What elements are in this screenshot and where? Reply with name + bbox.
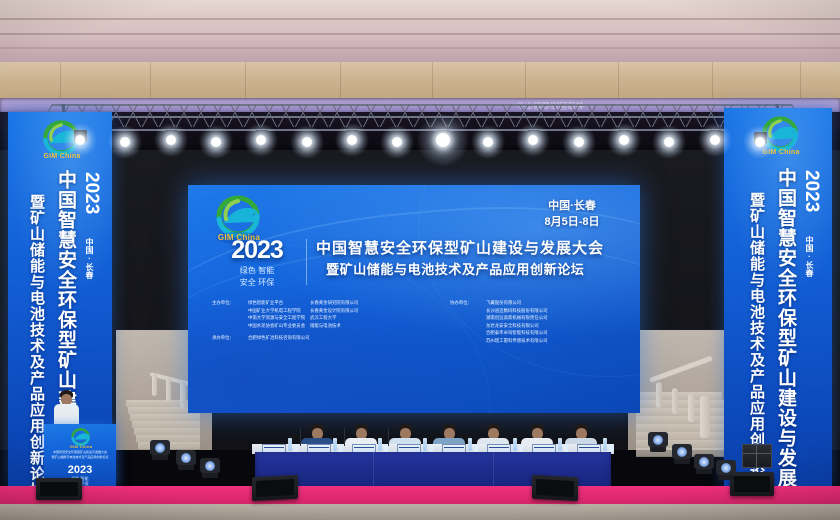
screen-dates: 8月5日-8日 [512, 215, 632, 231]
host-col1-item: 绿色智能矿业平台 [248, 299, 310, 307]
gim-logo-wordmark: GIM China [66, 444, 96, 449]
stage-monitor-far-right [730, 472, 774, 496]
stage-light-bulb [574, 137, 584, 147]
moving-head-light [176, 448, 196, 470]
drinking-glass [429, 444, 433, 452]
baluster [166, 378, 171, 402]
left-banner-venue: 中国·长春 [84, 238, 95, 279]
right-vertical-banner: GIM China 2023 中国·长春 中国智慧安全环保型矿山建设与发展大会 … [724, 108, 832, 490]
water-bottle [603, 438, 607, 451]
screen-year-block: 2023 绿色 智能 安全 环保 [214, 237, 300, 289]
stage-light-bulb [347, 135, 357, 145]
table-microphone [300, 428, 301, 446]
baluster [656, 382, 662, 408]
drinking-glass [609, 444, 613, 452]
moving-head-light [694, 452, 714, 474]
stage-light-bulb [710, 135, 720, 145]
moving-head-light [200, 456, 220, 478]
water-bottle [333, 438, 337, 451]
exec-value: 合肥绿色矿冶科技咨询有限公司 [248, 334, 309, 342]
left-banner-year: 2023 [80, 172, 102, 214]
coorganizer-row: 湖南创远高新机械有限责任公司 [450, 314, 547, 322]
podium-year: 2023 [44, 464, 116, 476]
host-col1-item: 中南大学资源与安全工程学院 [248, 314, 310, 322]
coorganizer-row: 协办单位： 飞翼股份有限公司 [450, 299, 547, 307]
host-label: 主办单位： [212, 299, 248, 307]
water-bottle [468, 438, 472, 451]
drinking-glass [339, 444, 343, 452]
stage-light-bulb [619, 135, 629, 145]
gim-logo-wordmark: GIM China [754, 149, 808, 156]
baluster [688, 394, 695, 422]
ceiling-cornice [0, 62, 840, 98]
host-col2-item: 储能与电池技术 [310, 322, 341, 330]
host-col2-item: 长春黄金设计院有限公司 [310, 307, 358, 315]
stage-light-bulb [75, 135, 85, 145]
screen-coorganizers: 协办单位： 飞翼股份有限公司 长沙迪迈数码科技股份有限公司 湖南创远高新机械有限… [450, 299, 547, 344]
host-col1-item: 中国水泥协会矿山专业委员会 [248, 322, 310, 330]
coorg-label: 协办单位： [450, 299, 486, 307]
stage-light-bulb [436, 133, 450, 147]
drinking-glass [474, 444, 478, 452]
moving-head-light [672, 442, 692, 464]
truss-chord [52, 129, 792, 131]
exec-label: 承办单位： [212, 334, 248, 342]
moving-head-light [150, 438, 170, 460]
stage-apron [0, 504, 840, 520]
organizer-row: 中南大学资源与安全工程学院 武汉工程大学 [212, 314, 358, 322]
stage-light-bulb [483, 137, 493, 147]
coorganizer-row: 长沙迪迈数码科技股份有限公司 [450, 307, 547, 315]
screen-slogan-line1: 绿色 智能 [214, 265, 300, 277]
coorg-item: 飞翼股份有限公司 [486, 299, 521, 307]
coorg-item: 龙岩龙安安全科技有限公司 [486, 322, 539, 330]
screen-title-main: 中国智慧安全环保型矿山建设与发展大会 [316, 239, 604, 258]
right-banner-year: 2023 [800, 170, 822, 212]
gim-logo-wordmark: GIM China [36, 153, 88, 160]
main-led-screen: GIM China 中国·长春 8月5日-8日 2023 绿色 智能 安全 环保… [188, 185, 640, 413]
stage-monitor-podium [36, 478, 82, 500]
screen-year: 2023 [214, 237, 300, 263]
coorg-item: 苏州理工雷科传感技术有限公司 [486, 337, 547, 345]
flight-case [742, 444, 772, 468]
baluster [180, 382, 186, 408]
right-banner-title-main: 中国智慧安全环保型矿山建设与发展大会 [772, 168, 799, 490]
table-microphone [388, 428, 389, 446]
podium-line2: 暨矿山储能与电池技术及产品应用创新论坛 [44, 455, 116, 459]
organizer-row: 主办单位： 绿色智能矿业平台 长春黄金研究院有限公司 [212, 299, 358, 307]
screen-title-divider [306, 239, 307, 285]
baluster [672, 388, 678, 414]
water-bottle [378, 438, 382, 451]
water-bottle [423, 438, 427, 451]
coorg-item: 长沙迪迈数码科技股份有限公司 [486, 307, 547, 315]
water-bottle [513, 438, 517, 451]
moving-head-light [648, 430, 668, 452]
baluster-newel [700, 396, 710, 438]
screen-venue: 中国·长春 [512, 199, 632, 215]
coorg-item: 湖南创远高新机械有限责任公司 [486, 314, 547, 322]
organizer-row-exec: 承办单位： 合肥绿色矿冶科技咨询有限公司 [212, 334, 358, 342]
drinking-glass [564, 444, 568, 452]
stage-light-bulb [755, 137, 765, 147]
stage-monitor-left [252, 475, 298, 501]
moving-head-light [716, 458, 736, 480]
organizer-row: 中国水泥协会矿山专业委员会 储能与电池技术 [212, 322, 358, 330]
coorganizer-row: 龙岩龙安安全科技有限公司 [450, 322, 547, 330]
stage-monitor-right [532, 475, 578, 501]
table-microphone [344, 428, 345, 446]
water-bottle [558, 438, 562, 451]
host-col1-item: 中国矿业大学机电工程学院 [248, 307, 310, 315]
gim-china-logo: GIM China [68, 428, 94, 450]
venue-ceiling [0, 0, 840, 62]
host-col2-item: 武汉工程大学 [310, 314, 336, 322]
drinking-glass [519, 444, 523, 452]
baluster [152, 374, 157, 396]
podium: GIM China 中国智慧安全环保型矿山建设与发展大会 暨矿山储能与电池技术及… [44, 424, 116, 486]
lighting-truss [52, 100, 792, 134]
screen-organizers: 主办单位： 绿色智能矿业平台 长春黄金研究院有限公司 中国矿业大学机电工程学院 … [212, 299, 358, 342]
water-bottle [288, 438, 292, 451]
drinking-glass [294, 444, 298, 452]
host-col2-item: 长春黄金研究院有限公司 [310, 299, 358, 307]
right-banner-venue: 中国·长春 [804, 236, 815, 277]
coorganizer-row: 合肥泰禾卓海智能科技有限公司 [450, 329, 547, 337]
stage-scene: 长春国际会展中心 GIM China [0, 0, 840, 520]
screen-venue-date: 中国·长春 8月5日-8日 [512, 199, 632, 231]
podium-line1: 中国智慧安全环保型矿山建设与发展大会 [44, 450, 116, 454]
screen-slogan-line2: 安全 环保 [214, 277, 300, 289]
organizer-row: 中国矿业大学机电工程学院 长春黄金设计院有限公司 [212, 307, 358, 315]
screen-title-sub: 暨矿山储能与电池技术及产品应用创新论坛 [326, 261, 584, 278]
stage-light-bulb [211, 137, 221, 147]
coorg-item: 合肥泰禾卓海智能科技有限公司 [486, 329, 547, 337]
stage-light-bulb [166, 135, 176, 145]
coorganizer-row: 苏州理工雷科传感技术有限公司 [450, 337, 547, 345]
stage-light-bulb [302, 137, 312, 147]
